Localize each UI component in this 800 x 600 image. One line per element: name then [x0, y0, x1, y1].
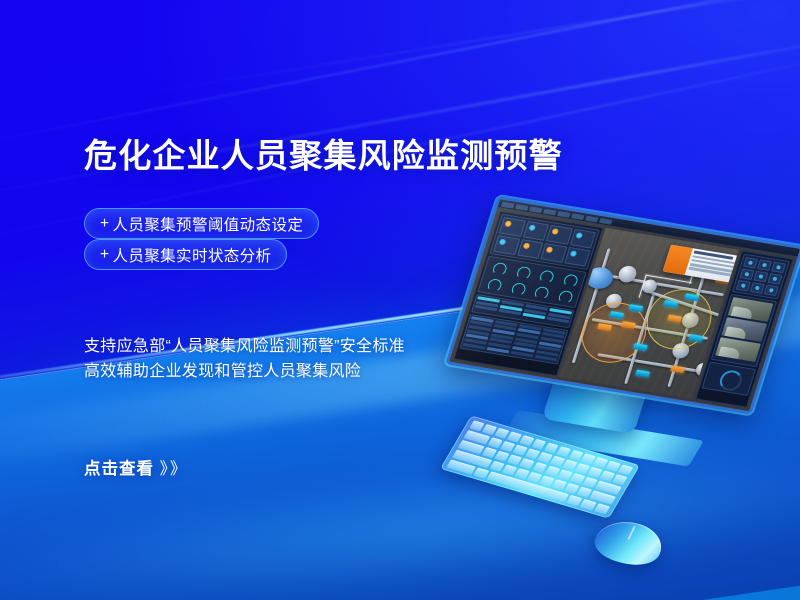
feature-pill-realtime[interactable]: + 人员聚集实时状态分析 — [84, 239, 287, 270]
gauge — [552, 287, 578, 305]
gauge — [505, 279, 531, 297]
control-icon[interactable] — [736, 280, 751, 292]
toolbar-button[interactable] — [543, 208, 557, 215]
metric-card — [702, 362, 756, 396]
progress-donut — [706, 365, 753, 393]
toolbar-button[interactable] — [515, 204, 529, 211]
status-tile[interactable] — [493, 235, 520, 255]
description-block: 支持应急部“人员聚集风险监测预警”安全标准 高效辅助企业发现和管控人员聚集风险 — [84, 334, 405, 384]
feature-pill-list: + 人员聚集预警阈值动态设定 + 人员聚集实时状态分析 — [84, 208, 319, 270]
status-tile[interactable] — [517, 239, 544, 259]
status-tile[interactable] — [569, 229, 596, 249]
control-icon[interactable] — [771, 262, 786, 274]
control-icon[interactable] — [764, 285, 779, 297]
cta-label: 点击查看 — [84, 460, 154, 478]
gauge — [533, 267, 559, 285]
sensor-tag[interactable] — [635, 370, 650, 378]
description-line-1: 支持应急部“人员聚集风险监测预警”安全标准 — [84, 334, 405, 359]
toolbar-button[interactable] — [571, 213, 585, 220]
toolbar-button[interactable] — [585, 215, 599, 222]
status-tile[interactable] — [564, 247, 591, 267]
status-tile[interactable] — [522, 221, 549, 241]
feature-pill-row: + 人员聚集实时状态分析 — [84, 239, 319, 270]
gauge — [486, 259, 512, 277]
gauge — [481, 275, 507, 293]
light-streak — [120, 0, 800, 98]
feature-pill-label: 人员聚集预警阈值动态设定 — [112, 213, 303, 235]
plus-icon: + — [100, 215, 109, 233]
description-line-2: 高效辅助企业发现和管控人员聚集风险 — [84, 359, 405, 384]
control-icon[interactable] — [743, 257, 758, 269]
toolbar-button[interactable] — [529, 206, 543, 213]
cta-link[interactable]: 点击查看 》》 — [84, 455, 188, 479]
control-icon[interactable] — [739, 268, 754, 280]
toolbar-button[interactable] — [599, 217, 613, 224]
control-icon-grid — [736, 257, 786, 296]
desktop-monitor — [498, 196, 800, 426]
feature-pill-row: + 人员聚集预警阈值动态设定 — [84, 208, 319, 239]
plus-icon: + — [100, 246, 109, 264]
dashboard-app — [449, 199, 800, 411]
control-icon[interactable] — [753, 271, 768, 283]
feature-pill-threshold[interactable]: + 人员聚集预警阈值动态设定 — [84, 208, 319, 239]
camera-thumbnail[interactable] — [715, 337, 761, 362]
feature-pill-label: 人员聚集实时状态分析 — [112, 244, 271, 266]
gauge — [528, 283, 554, 301]
toolbar-button[interactable] — [501, 201, 515, 208]
status-tile[interactable] — [546, 225, 573, 245]
gauge — [557, 271, 583, 289]
poster-stage: 危化企业人员聚集风险监测预警 + 人员聚集预警阈值动态设定 + 人员聚集实时状态… — [0, 0, 800, 600]
page-title: 危化企业人员聚集风险监测预警 — [84, 129, 563, 177]
control-card — [732, 254, 790, 300]
status-tile[interactable] — [540, 243, 567, 263]
control-icon[interactable] — [750, 282, 765, 294]
toolbar-button[interactable] — [557, 211, 571, 218]
status-tile[interactable] — [499, 217, 526, 237]
monitor-screen[interactable] — [445, 196, 800, 415]
double-chevron-icon: 》》 — [160, 460, 189, 478]
control-icon[interactable] — [757, 259, 772, 271]
gauge — [510, 263, 536, 281]
control-icon[interactable] — [767, 273, 782, 285]
